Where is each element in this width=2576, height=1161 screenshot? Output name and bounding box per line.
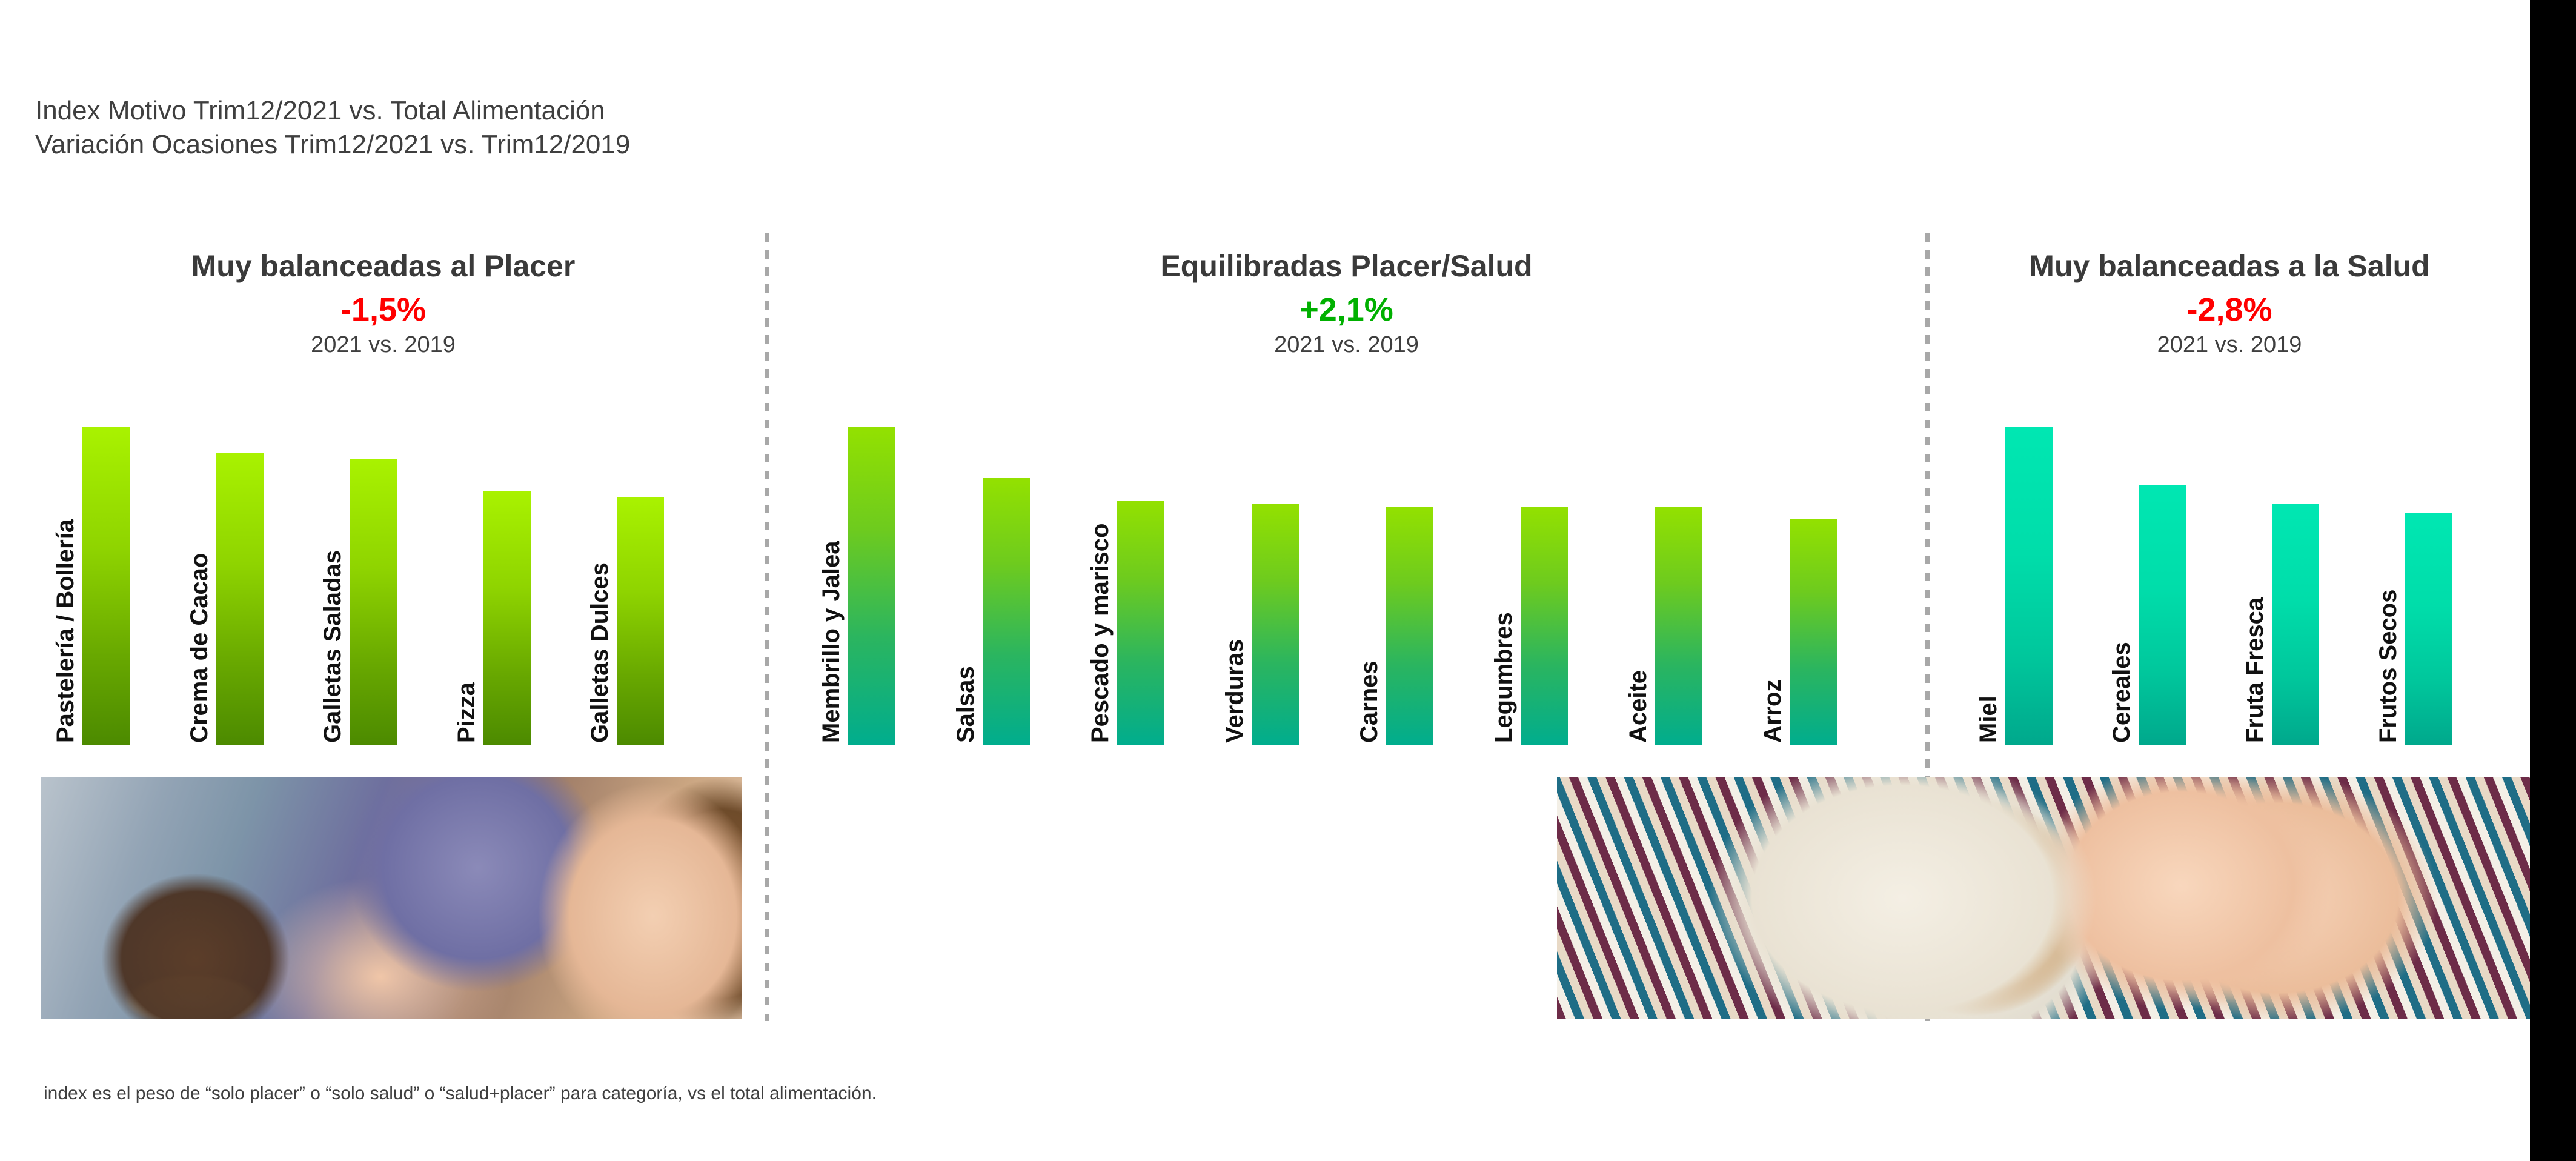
panel-header: Equilibradas Placer/Salud +2,1% 2021 vs.…: [766, 248, 1927, 358]
bar-category-label: Pastelería / Bollería: [53, 519, 78, 743]
panel-title: Equilibradas Placer/Salud: [766, 248, 1927, 284]
bar-category-label: Galletas Saladas: [320, 550, 345, 743]
bar-category-label: Cereales: [2110, 642, 2134, 743]
bar[interactable]: [1790, 519, 1837, 745]
panel-photo: [41, 777, 742, 1019]
bar-slot: Legumbres: [1521, 364, 1568, 745]
bar[interactable]: [483, 491, 531, 745]
bar-chart: Membrillo y JaleaSalsasPescado y marisco…: [766, 364, 1927, 745]
bar[interactable]: [216, 453, 264, 745]
panel-period: 2021 vs. 2019: [1927, 332, 2532, 358]
bar-slot: Cereales: [2139, 364, 2186, 745]
bar-category-label: Frutos Secos: [2376, 590, 2400, 743]
bar-category-label: Arroz: [1761, 680, 1785, 743]
bar[interactable]: [848, 427, 895, 745]
bar[interactable]: [1386, 507, 1433, 745]
panel-delta: -2,8%: [1927, 291, 2532, 328]
bar-category-label: Aceite: [1626, 670, 1650, 743]
bar[interactable]: [350, 459, 397, 746]
panel-header: Muy balanceadas a la Salud -2,8% 2021 vs…: [1927, 248, 2532, 358]
bar-slot: Pescado y marisco: [1117, 364, 1164, 745]
panel-equilibradas-placer-salud: Equilibradas Placer/Salud +2,1% 2021 vs.…: [766, 0, 1927, 1161]
bar-slot: Galletas Dulces: [617, 364, 664, 745]
bar[interactable]: [2139, 485, 2186, 746]
bar[interactable]: [2405, 513, 2452, 745]
bar-category-label: Legumbres: [1492, 612, 1516, 743]
bar-slot: Arroz: [1790, 364, 1837, 745]
bar-slot: Fruta Fresca: [2272, 364, 2319, 745]
bar-category-label: Pescado y marisco: [1088, 524, 1112, 743]
panel-period: 2021 vs. 2019: [0, 332, 766, 358]
bar-slot: Carnes: [1386, 364, 1433, 745]
bar[interactable]: [1252, 504, 1299, 745]
panel-header: Muy balanceadas al Placer -1,5% 2021 vs.…: [0, 248, 766, 358]
bar-chart: Pastelería / BolleríaCrema de CacaoGalle…: [0, 364, 766, 745]
panel-muy-balanceadas-a-la-salud: Muy balanceadas a la Salud -2,8% 2021 vs…: [1927, 0, 2532, 1161]
panel-period: 2021 vs. 2019: [766, 332, 1927, 358]
bar[interactable]: [1521, 507, 1568, 745]
bar[interactable]: [1117, 501, 1164, 745]
bar-category-label: Carnes: [1357, 660, 1381, 743]
bar-slot: Membrillo y Jalea: [848, 364, 895, 745]
bar-slot: Pastelería / Bollería: [82, 364, 130, 745]
bar-category-label: Salsas: [954, 666, 978, 743]
panel-delta: +2,1%: [766, 291, 1927, 328]
right-edge-band: [2530, 0, 2576, 1161]
bar[interactable]: [983, 478, 1030, 745]
bar-category-label: Galletas Dulces: [588, 562, 612, 743]
bar-slot: Crema de Cacao: [216, 364, 264, 745]
bar-slot: Miel: [2005, 364, 2053, 745]
bar[interactable]: [617, 497, 664, 746]
bar-category-label: Fruta Fresca: [2243, 597, 2267, 743]
bar-category-label: Miel: [1976, 696, 2000, 743]
bar[interactable]: [2272, 504, 2319, 745]
bar-slot: Verduras: [1252, 364, 1299, 745]
panel-title: Muy balanceadas al Placer: [0, 248, 766, 284]
panel-title: Muy balanceadas a la Salud: [1927, 248, 2532, 284]
bar-slot: Salsas: [983, 364, 1030, 745]
bar-slot: Aceite: [1655, 364, 1702, 745]
bar-category-label: Crema de Cacao: [187, 553, 211, 743]
panel-muy-balanceadas-al-placer: Muy balanceadas al Placer -1,5% 2021 vs.…: [0, 0, 766, 1161]
footnote: index es el peso de “solo placer” o “sol…: [44, 1083, 877, 1104]
bar-category-label: Membrillo y Jalea: [819, 541, 843, 743]
bar[interactable]: [2005, 427, 2053, 745]
bar-category-label: Verduras: [1223, 639, 1247, 743]
bar-category-label: Pizza: [454, 682, 479, 743]
bar[interactable]: [82, 427, 130, 745]
bar-slot: Pizza: [483, 364, 531, 745]
bar-chart: MielCerealesFruta FrescaFrutos Secos: [1927, 364, 2532, 745]
bar-slot: Frutos Secos: [2405, 364, 2452, 745]
panel-delta: -1,5%: [0, 291, 766, 328]
bar-slot: Galletas Saladas: [350, 364, 397, 745]
bar[interactable]: [1655, 507, 1702, 745]
